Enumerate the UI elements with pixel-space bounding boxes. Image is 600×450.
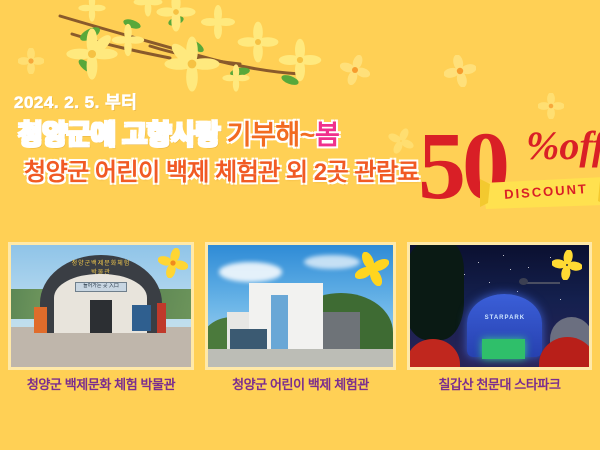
entrance-sign-ko: 들어가는 곳 xyxy=(83,283,107,289)
discount-percent-off: %off xyxy=(526,126,600,166)
promo-poster: 2024. 2. 5. 부터 청양군에 고향사랑 기부해~봄 청양군 어린이 백… xyxy=(0,0,600,450)
forsythia-flower-icon xyxy=(158,248,188,278)
sub-headline: 청양군 어린이 백제 체험관 외 2곳 관람료 xyxy=(24,158,440,188)
photo-caption-2: 청양군 어린이 백제 체험관 xyxy=(205,374,396,393)
headline-part-orange: 기부해~ xyxy=(227,120,315,150)
entrance-sign: 들어가는 곳 入口 Entrance xyxy=(75,282,127,291)
forsythia-flower-icon xyxy=(552,250,582,280)
museum-building-title: 청양군백제문화체험박물관 xyxy=(69,258,133,274)
headline-block: 2024. 2. 5. 부터 청양군에 고향사랑 기부해~봄 청양군 어린이 백… xyxy=(0,92,440,188)
photo-captions: 청양군 백제문화 체험 박물관 청양군 어린이 백제 체험관 칠갑산 천문대 스… xyxy=(0,374,600,396)
forsythia-flower-icon xyxy=(340,55,370,85)
discount-badge: 50 %off DISCOUNT xyxy=(418,118,600,230)
forsythia-flower-icon xyxy=(444,55,476,87)
starpark-building-sign: STARPARK xyxy=(478,315,532,321)
forsythia-flower-icon xyxy=(355,252,389,286)
forsythia-flower-icon xyxy=(538,93,564,119)
headline-part-white: 청양군에 고향사랑 xyxy=(18,120,220,150)
headline-part-pink: 봄 xyxy=(315,120,339,150)
entrance-sign-en: Entrance xyxy=(91,291,111,292)
photo-caption-3: 칠갑산 천문대 스타파크 xyxy=(407,374,592,393)
forsythia-flower-icon xyxy=(18,48,44,74)
promo-start-date: 2024. 2. 5. 부터 xyxy=(14,92,440,114)
entrance-sign-cn: 入口 xyxy=(109,283,119,289)
forsythia-branch-decoration xyxy=(0,0,330,104)
main-headline: 청양군에 고향사랑 기부해~봄 xyxy=(18,118,440,152)
photo-caption-1: 청양군 백제문화 체험 박물관 xyxy=(8,374,194,393)
discount-ribbon: DISCOUNT xyxy=(480,175,600,211)
photo-gallery: 청양군백제문화체험박물관 들어가는 곳 入口 Entrance xyxy=(0,242,600,372)
